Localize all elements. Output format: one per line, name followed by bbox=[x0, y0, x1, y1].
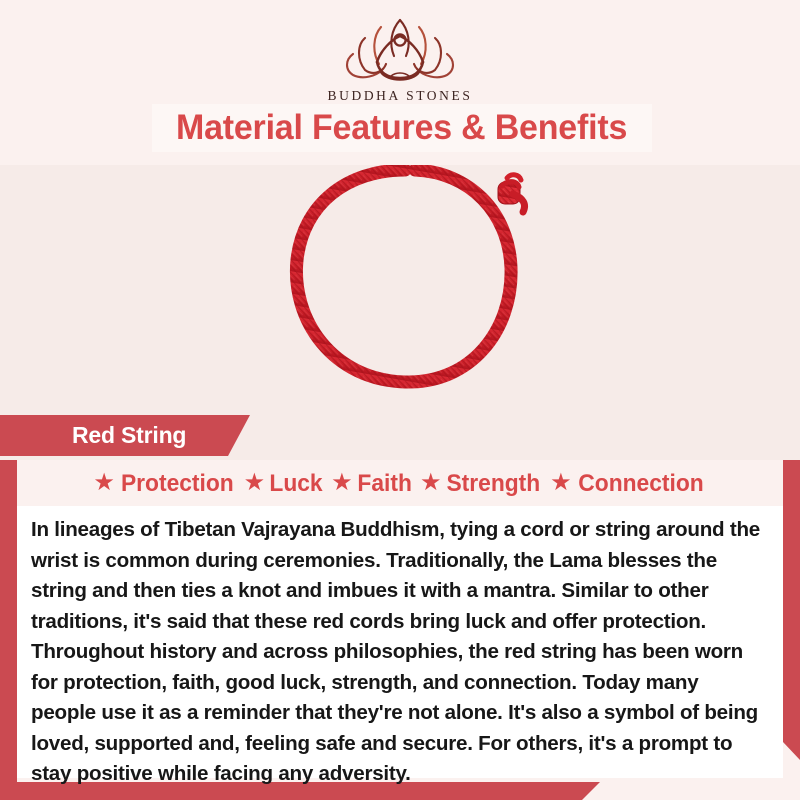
star-icon: ★ bbox=[331, 471, 353, 495]
star-icon: ★ bbox=[93, 471, 115, 495]
benefit-item-protection: ★ Protection bbox=[93, 470, 236, 498]
red-string-bracelet-image bbox=[255, 160, 555, 422]
benefit-label: Protection bbox=[121, 470, 234, 498]
benefit-label: Connection bbox=[578, 470, 703, 498]
benefits-row: ★ Protection ★ Luck ★ Faith ★ Strength ★… bbox=[17, 464, 783, 504]
star-icon: ★ bbox=[244, 471, 266, 495]
description-text: In lineages of Tibetan Vajrayana Buddhis… bbox=[17, 506, 783, 790]
benefit-item-faith: ★ Faith bbox=[331, 470, 413, 498]
benefit-item-luck: ★ Luck bbox=[244, 470, 325, 498]
material-label-banner: Red String bbox=[0, 415, 250, 456]
page-title: Material Features & Benefits bbox=[176, 108, 627, 148]
header: BUDDHA STONES Material Features & Benefi… bbox=[0, 0, 800, 165]
title-banner: Material Features & Benefits bbox=[152, 104, 652, 152]
benefit-label: Strength bbox=[447, 470, 541, 498]
star-icon: ★ bbox=[550, 471, 572, 495]
brand-name: BUDDHA STONES bbox=[0, 88, 800, 104]
benefit-label: Faith bbox=[357, 470, 411, 498]
benefit-item-strength: ★ Strength bbox=[420, 470, 543, 498]
material-label: Red String bbox=[72, 422, 186, 449]
benefit-item-connection: ★ Connection bbox=[550, 470, 707, 498]
brand-logo: BUDDHA STONES bbox=[0, 14, 800, 104]
description-panel: In lineages of Tibetan Vajrayana Buddhis… bbox=[17, 506, 783, 778]
star-icon: ★ bbox=[420, 471, 442, 495]
lotus-meditation-icon bbox=[339, 14, 461, 86]
infographic-canvas: BUDDHA STONES Material Features & Benefi… bbox=[0, 0, 800, 800]
benefit-label: Luck bbox=[269, 470, 322, 498]
